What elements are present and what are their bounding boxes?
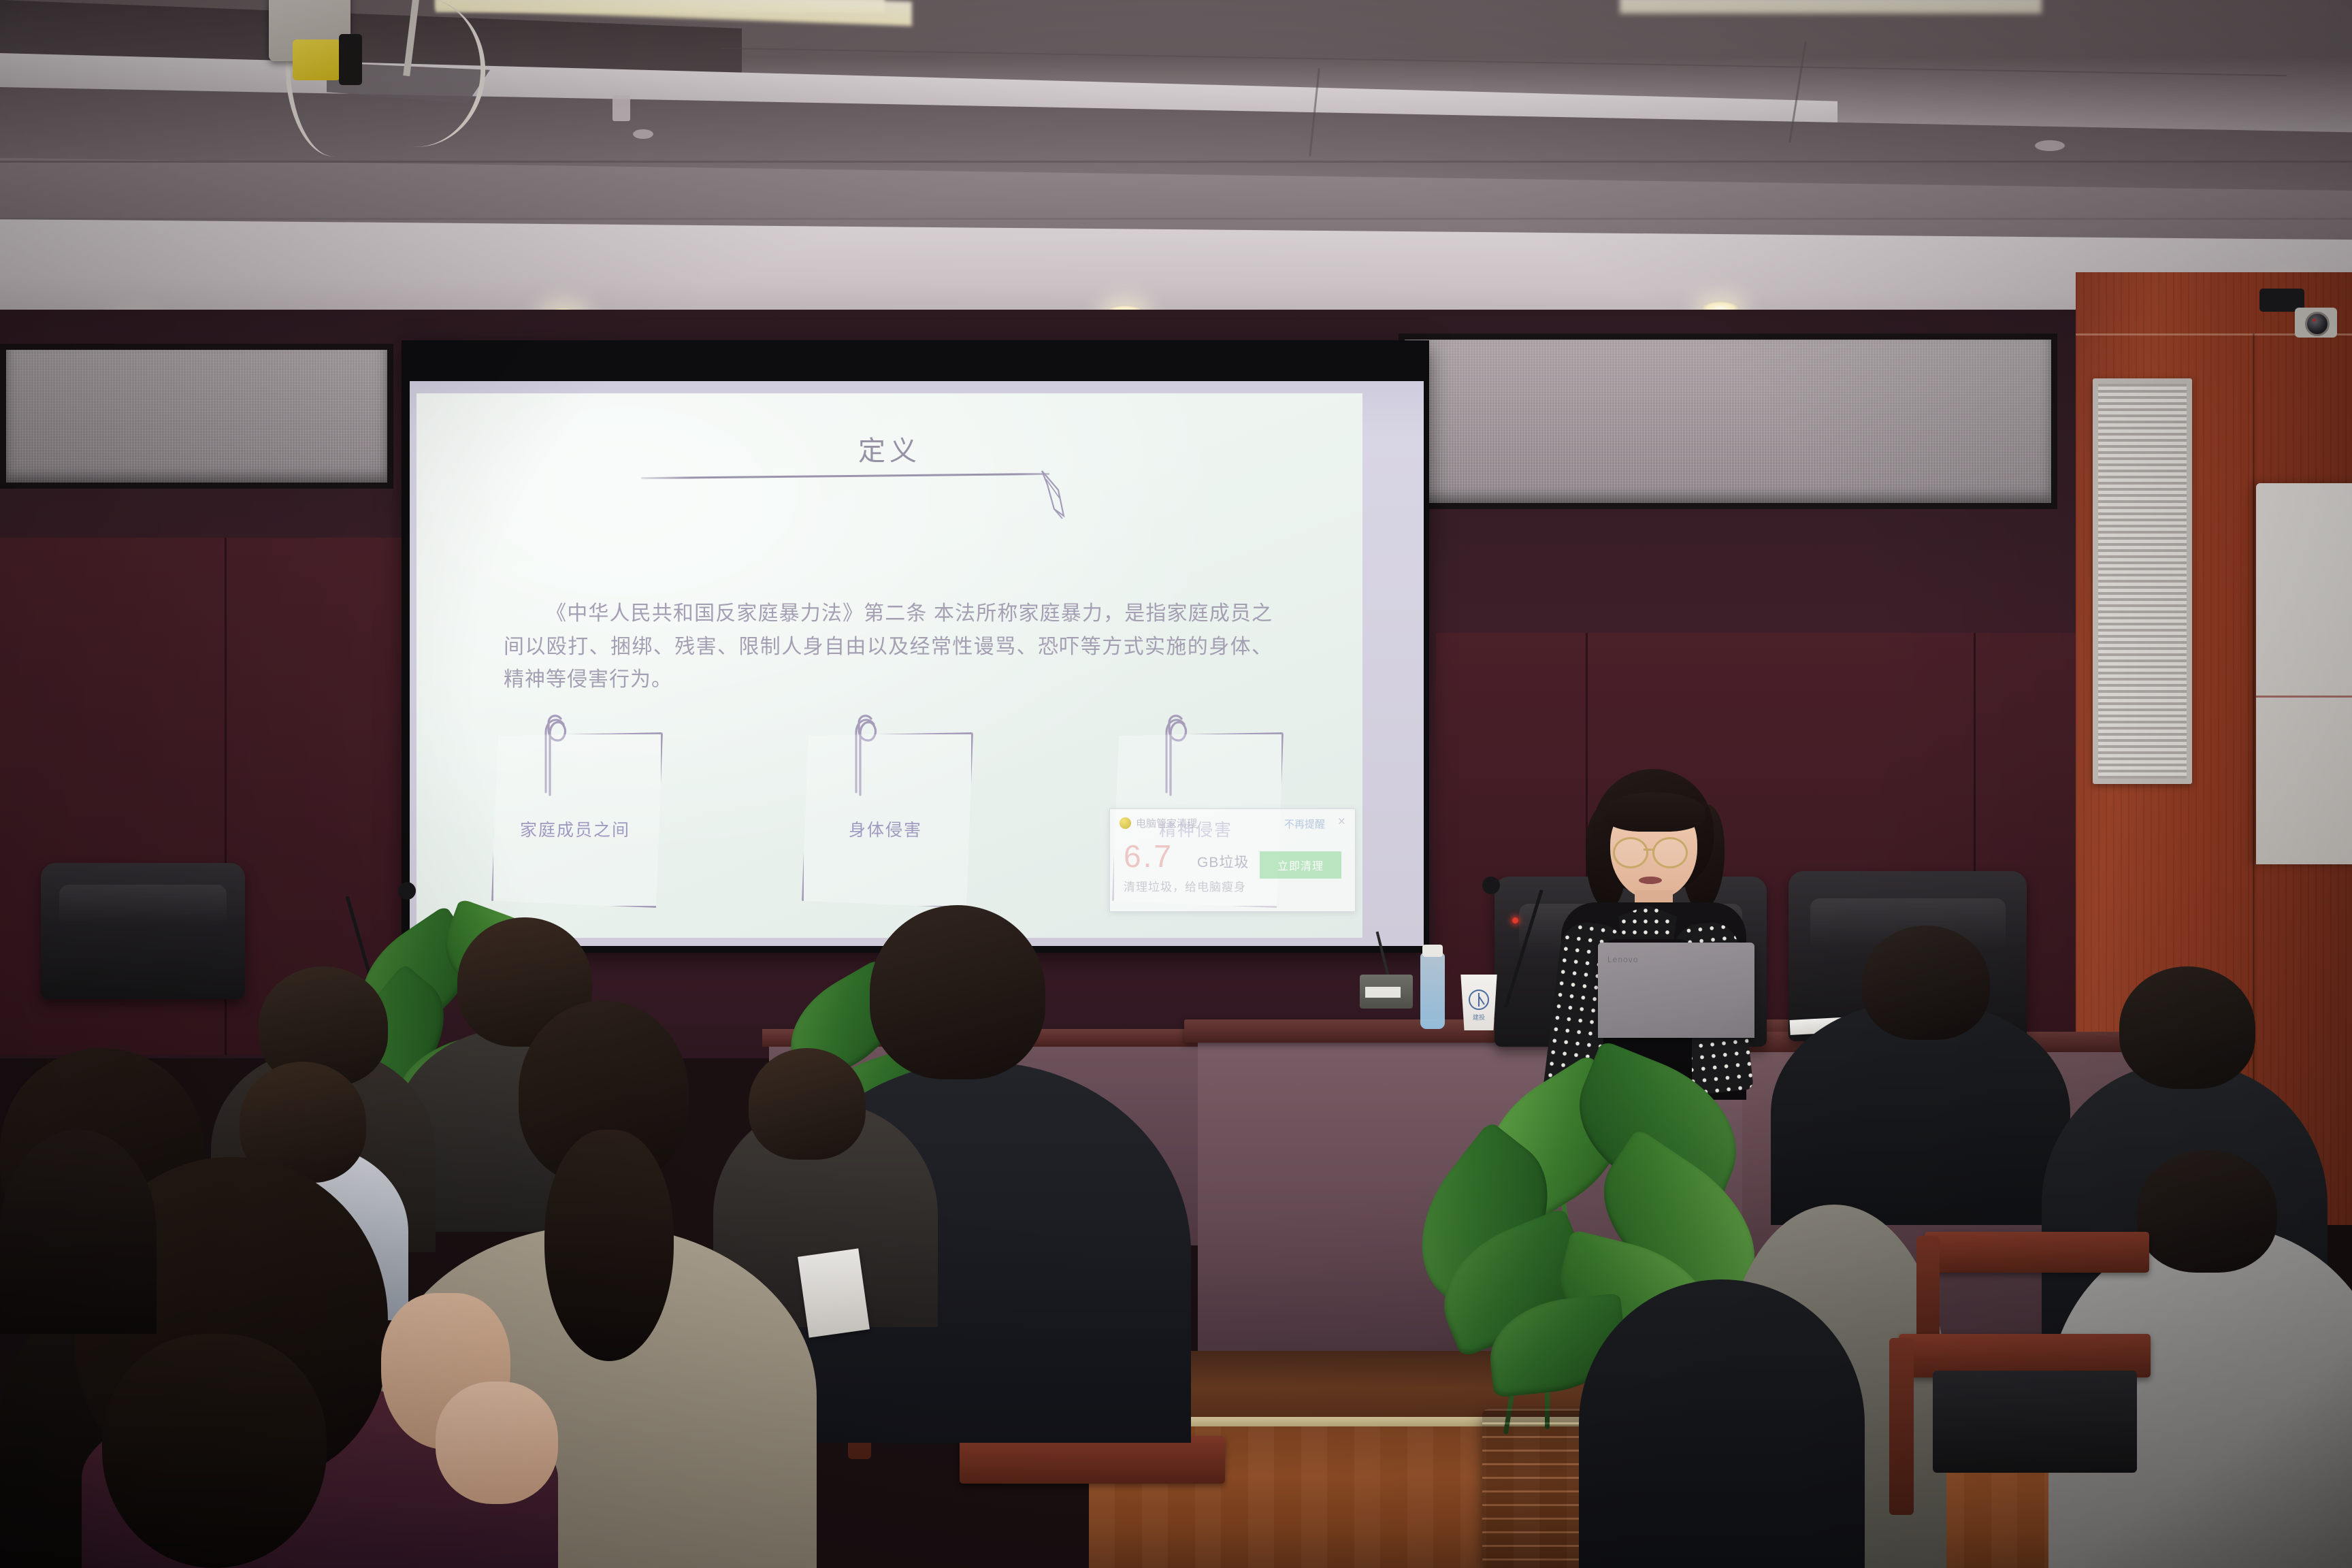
smoke-detector-icon (2035, 140, 2065, 151)
audience-head (2119, 966, 2255, 1089)
camera-lens-icon (2305, 312, 2330, 336)
clean-now-button[interactable]: 立即清理 (1260, 851, 1341, 879)
slide-card: 家庭成员之间 (491, 715, 674, 912)
audience-head (749, 1048, 866, 1160)
audience-head (870, 905, 1045, 1079)
close-icon[interactable]: × (1338, 815, 1345, 830)
chair-back[interactable] (1925, 1232, 2149, 1273)
popup-header: 电脑管家清理 (1120, 816, 1197, 830)
popup-amount: 6.7 (1124, 838, 1173, 875)
chair-seat[interactable] (1933, 1371, 2137, 1473)
body-text: 《中华人民共和国反家庭暴力法》第二条 本法所称家庭暴力，是指家庭成员之间以殴打、… (504, 602, 1273, 691)
popup-subtitle: 清理垃圾，给电脑瘦身 (1124, 877, 1246, 894)
bottle-cap (1422, 945, 1443, 957)
camera-indicator-icon (2313, 318, 2316, 322)
cleanup-popup[interactable]: 电脑管家清理 不再提醒 × 6.7 GB垃圾 清理垃圾，给电脑瘦身 立即清理 (1109, 808, 1356, 912)
acoustic-mesh-panel (0, 344, 393, 489)
ceiling-sensor-icon (612, 95, 630, 121)
popup-dismiss-link[interactable]: 不再提醒 (1284, 817, 1325, 831)
mouth (1639, 877, 1662, 884)
audience-head (1862, 926, 1990, 1040)
card-label: 身体侵害 (802, 817, 969, 841)
app-logo-icon (1120, 817, 1131, 829)
popup-app-title: 电脑管家清理 (1136, 816, 1197, 830)
hair-fall (102, 1334, 327, 1568)
microphone-icon[interactable] (398, 882, 416, 900)
chair-arm (1889, 1338, 1914, 1515)
ceiling-strip-light-right (1620, 0, 2042, 14)
glasses-bridge (1644, 849, 1654, 851)
presentation-slide: 定义 《中华人民共和国反家庭暴力法》第二条 本法所称家庭暴力，是指家庭成员之间以… (416, 393, 1362, 938)
wall-cabinet (2256, 483, 2352, 864)
glasses-icon (1652, 837, 1688, 868)
cabinet-trim (2256, 696, 2352, 698)
ventilation-grille (2093, 378, 2192, 784)
projector-black-connector (339, 34, 362, 85)
smoke-detector-icon (633, 129, 653, 139)
acoustic-mesh-panel (1399, 333, 2057, 509)
audience-member (1579, 1279, 1865, 1568)
audience-head (2137, 1150, 2277, 1273)
ceiling-grid-line (0, 218, 2352, 220)
lecture-room-photo: 定义 《中华人民共和国反家庭暴力法》第二条 本法所称家庭暴力，是指家庭成员之间以… (0, 0, 2352, 1568)
pen-icon (1039, 470, 1090, 523)
microphone-led-icon (1512, 917, 1518, 924)
card-label: 家庭成员之间 (491, 817, 659, 841)
slide-card: 身体侵害 (802, 715, 984, 912)
office-chair[interactable] (41, 863, 245, 999)
hair-fringe (1603, 792, 1705, 832)
receiver-label (1365, 987, 1401, 998)
handout-paper[interactable] (798, 1248, 870, 1337)
popup-unit: GB垃圾 (1197, 851, 1249, 872)
glasses-icon (1613, 837, 1648, 868)
slide-title: 定义 (416, 429, 1362, 468)
projector-yellow-connector (293, 39, 340, 80)
slide-body-text: 《中华人民共和国反家庭暴力法》第二条 本法所称家庭暴力，是指家庭成员之间以殴打、… (504, 598, 1273, 697)
chair-back[interactable] (960, 1436, 1225, 1484)
audience-hand (436, 1382, 558, 1504)
laptop-brand-label: Lenovo (1607, 955, 1638, 964)
ceiling-grid-line (0, 161, 2352, 163)
audience-member (0, 1130, 157, 1334)
ponytail (544, 1130, 674, 1361)
grille-slats (2098, 384, 2187, 779)
microphone-icon[interactable] (1482, 877, 1500, 894)
